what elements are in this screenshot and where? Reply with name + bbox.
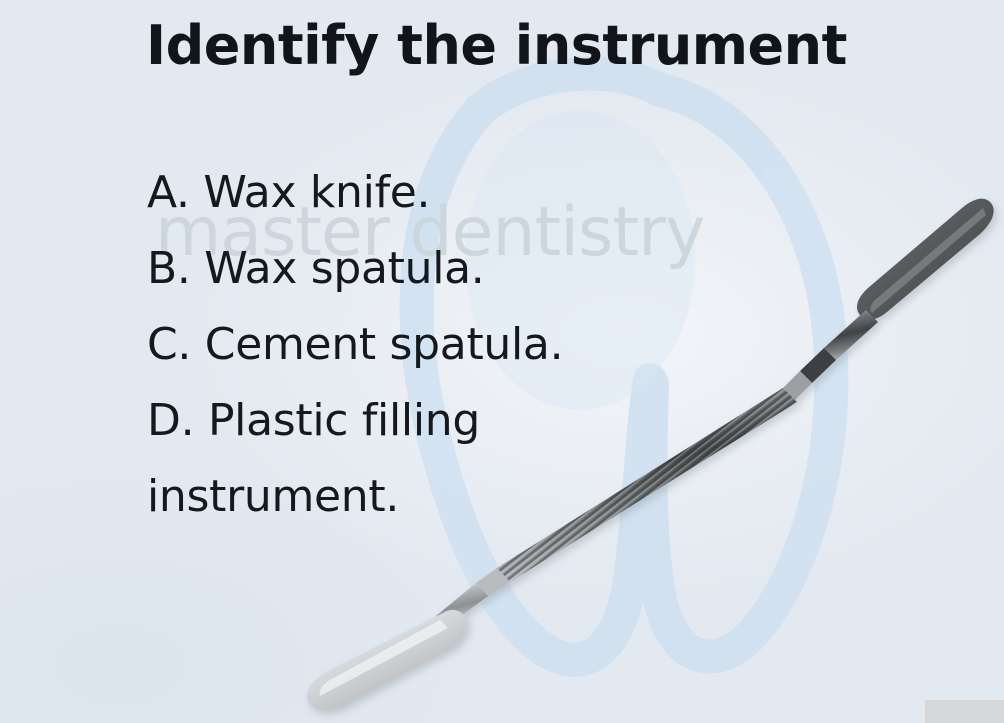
option-c[interactable]: C. Cement spatula. — [147, 307, 767, 383]
option-a[interactable]: A. Wax knife. — [147, 155, 767, 231]
option-d-continuation: instrument. — [147, 459, 767, 535]
option-d[interactable]: D. Plastic filling — [147, 383, 767, 459]
page-title: Identify the instrument — [146, 14, 847, 77]
option-b[interactable]: B. Wax spatula. — [147, 231, 767, 307]
slide-canvas: master dentistry — [0, 0, 1004, 723]
corner-plate — [924, 699, 1004, 723]
answer-options-list: A. Wax knife. B. Wax spatula. C. Cement … — [147, 155, 767, 535]
